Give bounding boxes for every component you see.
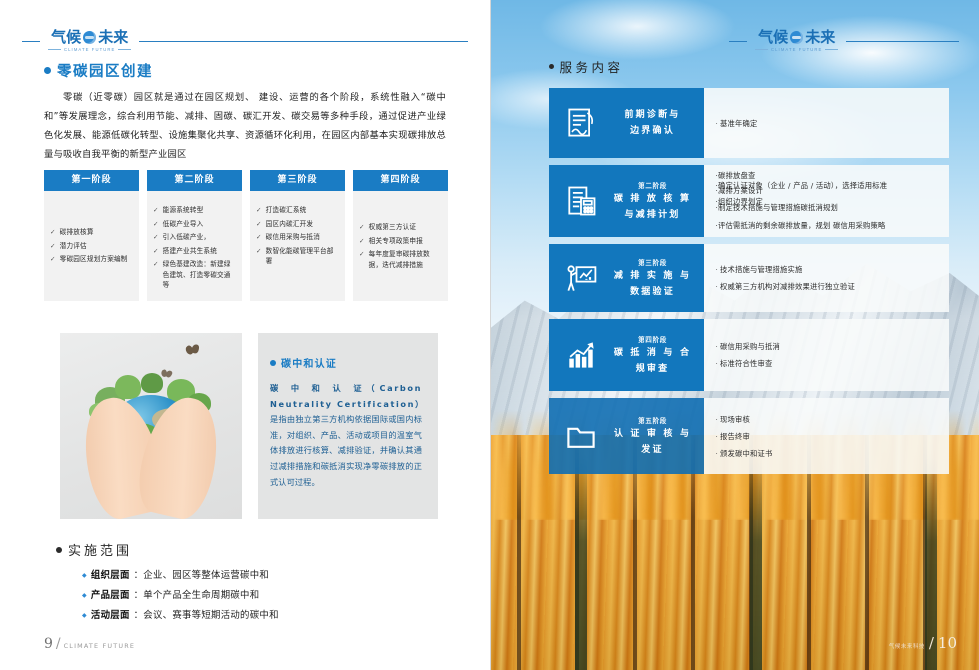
stage-column-3: 第三阶段 ✓打造碳汇系统 ✓园区内碳汇开发 ✓碳信用采购与抵消 ✓数智化能碳管理… [250, 170, 345, 301]
stage-item: ✓零碳园区规划方案编制 [50, 254, 131, 265]
stage-item-label: 能源系统转型 [163, 205, 204, 216]
stage-body-4: ✓权威第三方认证 ✓相关专项政策申报 ✓每年度复审碳排放数据，迭代减排措施 [353, 191, 448, 301]
left-page: 气候 未来 CLIMATE FUTURE 零碳园区创建 零碳（近零碳）园区就是通… [0, 0, 490, 670]
check-icon: ✓ [359, 249, 365, 260]
step-detail-item: ·评估需抵消的剩余碳排放量，规划 碳信用采购策略 [716, 220, 939, 231]
step-2-phase: 第二阶段 [638, 180, 667, 190]
right-page-header: 气候 未来 CLIMATE FUTURE [729, 28, 959, 54]
step-5-name-line-1: 认 证 审 核 与 [614, 427, 691, 441]
stage-item: ✓引入低碳产业， [153, 232, 234, 243]
step-detail-item: ·技术措施与管理措施实施 [716, 264, 937, 275]
section-title: 零碳园区创建 [57, 60, 153, 81]
stage-header-2: 第二阶段 [147, 170, 242, 191]
carbon-neutrality-certification-panel: 碳中和认证 碳 中 和 认 证（Carbon Neutrality Certif… [258, 333, 438, 519]
footer-slash: / [929, 634, 934, 652]
step-detail-item: ·碳信用采购与抵消 [716, 341, 937, 352]
stage-item-label: 相关专项政策申报 [369, 236, 423, 247]
scope-item-text: ：单个产品全生命周期碳中和 [134, 586, 260, 605]
step-detail-text: 颁发碳中和证书 [720, 448, 772, 459]
globe-icon [83, 31, 96, 44]
header-rule-right [139, 41, 468, 42]
service-steps-list: 前期诊断与 边界确认 ·基准年确定 [549, 88, 949, 481]
scope-item-label: 产品层面 [91, 586, 130, 605]
step-4-details: ·碳信用采购与抵消 ·标准符合性审查 [704, 319, 949, 391]
step-2-name-line-2: 与减排计划 [624, 208, 680, 222]
logo-dash-left [755, 49, 768, 50]
stage-item: ✓数智化能碳管理平台部署 [256, 246, 337, 267]
bullet-dot-icon [270, 360, 276, 366]
logo-dash-left [48, 49, 61, 50]
stage-item-label: 绿色基建改造：新建绿色建筑、打造零碳交通等 [163, 259, 234, 291]
diamond-bullet-icon: ◆ [82, 606, 87, 625]
check-icon: ✓ [256, 232, 262, 243]
stage-item: ✓碳信用采购与抵消 [256, 232, 337, 243]
step-5-name-line-2: 发证 [641, 443, 663, 457]
scope-list-item: ◆ 组织层面 ：企业、园区等整体运营碳中和 [82, 566, 412, 586]
stage-item-label: 碳排放核算 [60, 227, 94, 238]
step-detail-text: 碳排放盘查 [718, 171, 755, 180]
logo-dash-right [118, 49, 131, 50]
step-3-name-line-2: 数据验证 [630, 285, 675, 299]
check-icon: ✓ [256, 219, 262, 230]
page-number: 9 [44, 636, 53, 652]
section-heading-service-content: 服务内容 [549, 57, 624, 76]
stage-item: ✓碳排放核算 [50, 227, 131, 238]
step-detail-item: ·标准符合性审查 [716, 358, 937, 369]
detail-bullet-icon: · [716, 118, 719, 129]
scope-list-item: ◆ 产品层面 ：单个产品全生命周期碳中和 [82, 586, 412, 606]
left-page-header: 气候 未来 CLIMATE FUTURE [22, 28, 468, 54]
certification-lead: 碳 中 和 认 证（Carbon Neutrality Certificatio… [270, 383, 425, 409]
step-2-name-line-1: 碳 排 放 核 算 [614, 192, 691, 206]
earth-illustration [60, 333, 242, 519]
stage-item: ✓低碳产业导入 [153, 219, 234, 230]
step-5-details: ·现场审核 ·报告终审 ·颁发碳中和证书 [704, 398, 949, 474]
stage-column-2: 第二阶段 ✓能源系统转型 ✓低碳产业导入 ✓引入低碳产业， ✓搭建产业共生系统 … [147, 170, 242, 301]
header-rule-left [22, 41, 40, 42]
step-4-name-line-2: 规审查 [636, 362, 670, 376]
stage-body-2: ✓能源系统转型 ✓低碳产业导入 ✓引入低碳产业， ✓搭建产业共生系统 ✓绿色基建… [147, 191, 242, 301]
step-detail-item: ·报告终审 [716, 431, 937, 442]
scope-item-label: 组织层面 [91, 566, 130, 585]
stage-item: ✓权威第三方认证 [359, 222, 440, 233]
certification-title: 碳中和认证 [281, 355, 337, 370]
step-4-name-line-1: 碳 抵 消 与 合 [614, 346, 691, 360]
step-1-header: 前期诊断与 边界确认 [549, 88, 704, 158]
right-page: 气候 未来 CLIMATE FUTURE 服务内容 [491, 0, 979, 670]
stage-item-label: 碳信用采购与抵消 [266, 232, 320, 243]
detail-bullet-icon: · [716, 264, 719, 275]
logo-subtitle-row: CLIMATE FUTURE [48, 47, 131, 52]
stage-item-label: 打造碳汇系统 [266, 205, 307, 216]
diamond-bullet-icon: ◆ [82, 586, 87, 605]
logo-subtitle: CLIMATE FUTURE [771, 47, 822, 52]
step-detail-item: ·基准年确定 [716, 118, 937, 129]
stage-item-label: 权威第三方认证 [369, 222, 417, 233]
service-section-title: 服务内容 [560, 57, 624, 76]
step-detail-item: ·权威第三方机构对减排效果进行独立验证 [716, 281, 937, 292]
certification-body: 碳 中 和 认 证（Carbon Neutrality Certificatio… [270, 381, 422, 490]
step-detail-text: 现场审核 [720, 414, 750, 425]
scope-item-label: 活动层面 [91, 606, 130, 625]
check-icon: ✓ [153, 246, 159, 257]
stage-item: ✓每年度复审碳排放数据，迭代减排措施 [359, 249, 440, 270]
step-5-titles: 第五阶段 认 证 审 核 与 发证 [610, 415, 696, 457]
scope-list-item: ◆ 活动层面 ：会议、赛事等短期活动的碳中和 [82, 606, 412, 626]
folder-icon [561, 416, 601, 456]
detail-bullet-icon: · [716, 414, 719, 425]
section-heading-zero-carbon-park: 零碳园区创建 [44, 60, 153, 81]
stage-column-1: 第一阶段 ✓碳排放核算 ✓潜力评估 ✓零碳园区规划方案编制 [44, 170, 139, 301]
stage-columns: 第一阶段 ✓碳排放核算 ✓潜力评估 ✓零碳园区规划方案编制 第二阶段 ✓能源系统… [44, 170, 448, 301]
step-detail-item: ·减排方案设计 [716, 185, 939, 196]
step-detail-text: 基准年确定 [720, 118, 757, 129]
step-1-details: ·基准年确定 [704, 88, 949, 158]
stage-body-1: ✓碳排放核算 ✓潜力评估 ✓零碳园区规划方案编制 [44, 191, 139, 301]
globe-icon [790, 31, 803, 44]
brochure-spread: 气候 未来 CLIMATE FUTURE 零碳园区创建 零碳（近零碳）园区就是通… [0, 0, 979, 670]
stage-column-4: 第四阶段 ✓权威第三方认证 ✓相关专项政策申报 ✓每年度复审碳排放数据，迭代减排… [353, 170, 448, 301]
detail-bullet-icon: · [716, 358, 719, 369]
step-4-header: 第四阶段 碳 抵 消 与 合 规审查 [549, 319, 704, 391]
logo-text-left: 气候 [51, 30, 81, 45]
service-step-4[interactable]: 第四阶段 碳 抵 消 与 合 规审查 ·碳信用采购与抵消 ·标准符合性审查 [549, 319, 949, 391]
step-2-details: ·碳排放盘查 ·确定认证对象（企业 / 产品 / 活动），选择适用标准 ·减排方… [704, 165, 949, 237]
logo-text-right: 未来 [98, 30, 128, 45]
footer-brand: 气候未来科技 [889, 642, 925, 650]
scope-list: ◆ 组织层面 ：企业、园区等整体运营碳中和 ◆ 产品层面 ：单个产品全生命周期碳… [82, 566, 412, 626]
stage-item: ✓相关专项政策申报 [359, 236, 440, 247]
service-step-2[interactable]: 第二阶段 碳 排 放 核 算 与减排计划 ·碳排放盘查 ·确定认证对象（企业 /… [549, 165, 949, 237]
left-page-footer: 9 / CLIMATE FUTURE [44, 636, 135, 652]
step-detail-text: 减排方案设计 [718, 186, 763, 195]
detail-bullet-icon: · [716, 431, 719, 442]
logo-dash-right [825, 49, 838, 50]
stage-item-label: 低碳产业导入 [163, 219, 204, 230]
check-icon: ✓ [359, 222, 365, 233]
step-3-details: ·技术措施与管理措施实施 ·权威第三方机构对减排效果进行独立验证 [704, 244, 949, 312]
check-icon: ✓ [50, 227, 56, 238]
service-step-1[interactable]: 前期诊断与 边界确认 ·基准年确定 [549, 88, 949, 158]
step-1-name-line-1: 前期诊断与 [624, 108, 680, 122]
calculator-document-icon [561, 181, 601, 221]
detail-bullet-icon: · [716, 341, 719, 352]
step-3-name-line-1: 减 排 实 施 与 [614, 269, 691, 283]
logo-subtitle: CLIMATE FUTURE [64, 47, 115, 52]
step-detail-item: ·颁发碳中和证书 [716, 448, 937, 459]
check-icon: ✓ [256, 246, 262, 257]
scope-title: 实施范围 [68, 540, 132, 559]
step-detail-text: 权威第三方机构对减排效果进行独立验证 [720, 281, 855, 292]
stage-item-label: 零碳园区规划方案编制 [60, 254, 128, 265]
earth-in-hands-image [60, 333, 242, 519]
detail-bullet-icon: · [716, 281, 719, 292]
step-3-header: 第三阶段 减 排 实 施 与 数据验证 [549, 244, 704, 312]
step-detail-text: 标准符合性审查 [720, 358, 772, 369]
step-detail-text: 报告终审 [720, 431, 750, 442]
certification-text: 是指由独立第三方机构依据国际或国内标准，对组织、产品、活动或项目的温室气体排放进… [270, 414, 422, 486]
step-2-header: 第二阶段 碳 排 放 核 算 与减排计划 [549, 165, 704, 237]
bullet-dot-icon [56, 547, 62, 553]
stage-item: ✓打造碳汇系统 [256, 205, 337, 216]
service-step-5[interactable]: 第五阶段 认 证 审 核 与 发证 ·现场审核 ·报告终审 ·颁发碳中和证书 [549, 398, 949, 474]
step-5-phase: 第五阶段 [638, 415, 667, 425]
stage-item-label: 园区内碳汇开发 [266, 219, 314, 230]
bullet-dot-icon [549, 64, 554, 69]
check-icon: ✓ [256, 205, 262, 216]
certification-heading: 碳中和认证 [270, 355, 422, 370]
logo-climate-future: 气候 未来 CLIMATE FUTURE [747, 30, 846, 52]
step-detail-text: 评估需抵消的剩余碳排放量，规划 碳信用采购策略 [718, 221, 885, 230]
stage-header-1: 第一阶段 [44, 170, 139, 191]
diamond-bullet-icon: ◆ [82, 566, 87, 585]
detail-bullet-icon: · [716, 448, 719, 459]
step-detail-text: 碳信用采购与抵消 [720, 341, 780, 352]
stage-item: ✓绿色基建改造：新建绿色建筑、打造零碳交通等 [153, 259, 234, 291]
bullet-dot-icon [44, 67, 51, 74]
header-rule-left [729, 41, 747, 42]
logo-text-right: 未来 [805, 30, 835, 45]
footer-slash: / [56, 636, 61, 652]
step-1-titles: 前期诊断与 边界确认 [610, 108, 696, 138]
footer-label: CLIMATE FUTURE [64, 642, 135, 650]
step-4-titles: 第四阶段 碳 抵 消 与 合 规审查 [610, 334, 696, 376]
section-heading-implementation-scope: 实施范围 [56, 540, 132, 559]
right-page-footer: 气候未来科技 / 10 [889, 634, 957, 652]
stage-item: ✓搭建产业共生系统 [153, 246, 234, 257]
service-step-3[interactable]: 第三阶段 减 排 实 施 与 数据验证 ·技术措施与管理措施实施 ·权威第三方机… [549, 244, 949, 312]
check-icon: ✓ [50, 241, 56, 252]
check-icon: ✓ [153, 205, 159, 216]
logo-subtitle-row: CLIMATE FUTURE [755, 47, 838, 52]
step-3-titles: 第三阶段 减 排 实 施 与 数据验证 [610, 257, 696, 299]
stage-item-label: 引入低碳产业， [163, 232, 211, 243]
step-3-phase: 第三阶段 [638, 257, 667, 267]
intro-paragraph: 零碳（近零碳）园区就是通过在园区规划、 建设、运营的各个阶段，系统性融入“碳中和… [44, 88, 446, 164]
stage-item-label: 数智化能碳管理平台部署 [266, 246, 337, 267]
check-icon: ✓ [153, 232, 159, 243]
stage-item-label: 每年度复审碳排放数据，迭代减排措施 [369, 249, 440, 270]
stage-item: ✓园区内碳汇开发 [256, 219, 337, 230]
step-detail-item: ·制定技术措施与管理措施碳抵消规划 [716, 202, 939, 213]
stage-header-3: 第三阶段 [250, 170, 345, 191]
scope-item-text: ：企业、园区等整体运营碳中和 [134, 566, 269, 585]
step-detail-item: ·现场审核 [716, 414, 937, 425]
check-icon: ✓ [359, 236, 365, 247]
step-detail-text: 技术措施与管理措施实施 [720, 264, 802, 275]
logo-climate-future: 气候 未来 CLIMATE FUTURE [40, 30, 139, 52]
check-icon: ✓ [50, 254, 56, 265]
stage-item: ✓能源系统转型 [153, 205, 234, 216]
logo-text-left: 气候 [758, 30, 788, 45]
stage-body-3: ✓打造碳汇系统 ✓园区内碳汇开发 ✓碳信用采购与抵消 ✓数智化能碳管理平台部署 [250, 191, 345, 301]
butterfly-icon [185, 344, 200, 356]
stage-item-label: 潜力评估 [60, 241, 87, 252]
stage-item-label: 搭建产业共生系统 [163, 246, 217, 257]
scope-item-text: ：会议、赛事等短期活动的碳中和 [134, 606, 279, 625]
page-number: 10 [938, 634, 957, 652]
step-2-titles: 第二阶段 碳 排 放 核 算 与减排计划 [610, 180, 696, 222]
step-detail-text: 制定技术措施与管理措施碳抵消规划 [718, 203, 838, 212]
step-1-name-line-2: 边界确认 [630, 124, 675, 138]
presentation-chart-person-icon [561, 258, 601, 298]
growth-bar-chart-icon [561, 335, 601, 375]
step-4-phase: 第四阶段 [638, 334, 667, 344]
step-5-header: 第五阶段 认 证 审 核 与 发证 [549, 398, 704, 474]
stage-item: ✓潜力评估 [50, 241, 131, 252]
check-icon: ✓ [153, 259, 159, 270]
stage-header-4: 第四阶段 [353, 170, 448, 191]
header-rule-right [846, 41, 959, 42]
check-icon: ✓ [153, 219, 159, 230]
document-signature-icon [561, 103, 601, 143]
